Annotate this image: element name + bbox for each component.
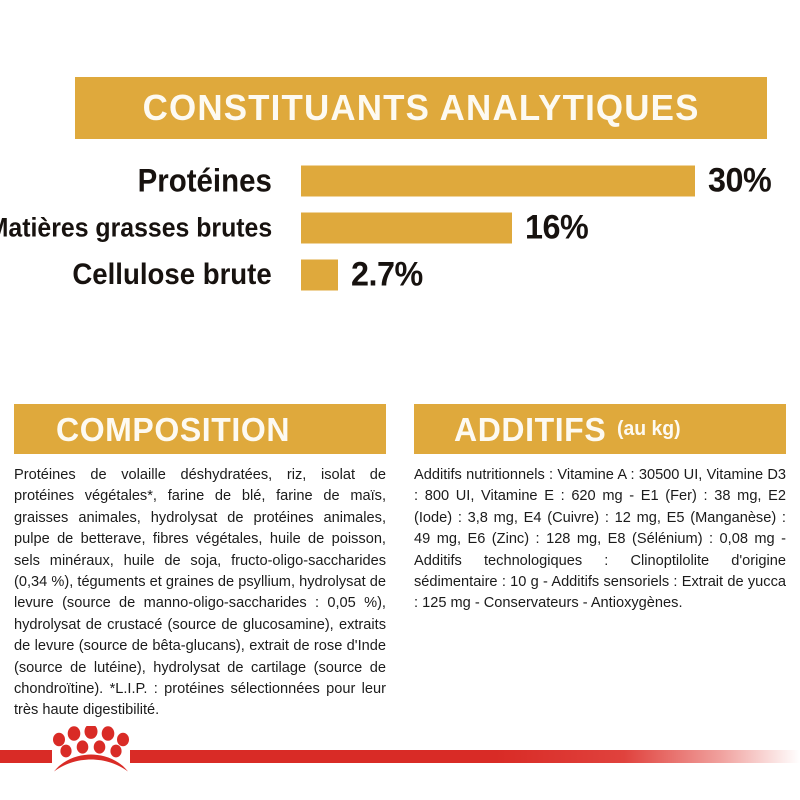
chart-label-matieres-grasses-brutes: Matières grasses brutes (0, 212, 272, 243)
chart-bar-cellulose-brute (301, 259, 338, 290)
analytical-constituents-chart: Protéines 30% Matières grasses brutes 16… (0, 157, 800, 298)
chart-row-cellulose-brute: Cellulose brute 2.7% (0, 251, 800, 298)
chart-track-matieres-grasses-brutes: 16% (301, 212, 592, 243)
chart-value-matieres-grasses-brutes: 16% (525, 211, 588, 245)
chart-track-proteines: 30% (301, 165, 775, 196)
additives-title: ADDITIFS (454, 413, 606, 446)
additives-title-unit: (au kg) (617, 419, 681, 439)
additives-body-text: Additifs nutritionnels : Vitamine A : 30… (414, 465, 786, 615)
product-spec-panel: CONSTITUANTS ANALYTIQUES Protéines 30% M… (0, 0, 800, 800)
composition-title: COMPOSITION (56, 413, 290, 446)
analytical-constituents-header-band: CONSTITUANTS ANALYTIQUES (75, 77, 767, 139)
composition-body-text: Protéines de volaille déshydratées, riz,… (14, 465, 386, 722)
composition-column: COMPOSITION Protéines de volaille déshyd… (0, 404, 400, 722)
additives-column: ADDITIFS (au kg) Additifs nutritionnels … (400, 404, 800, 722)
analytical-constituents-title: CONSTITUANTS ANALYTIQUES (143, 90, 700, 126)
additives-header-band: ADDITIFS (au kg) (414, 404, 786, 454)
chart-value-cellulose-brute: 2.7% (351, 258, 423, 292)
chart-bar-proteines (301, 165, 695, 196)
composition-header-band: COMPOSITION (14, 404, 386, 454)
royal-canin-crown-icon (52, 726, 130, 774)
chart-label-proteines: Protéines (138, 162, 272, 199)
chart-bar-matieres-grasses-brutes (301, 212, 512, 243)
chart-row-proteines: Protéines 30% (0, 157, 800, 204)
details-columns: COMPOSITION Protéines de volaille déshyd… (0, 404, 800, 722)
chart-row-matieres-grasses-brutes: Matières grasses brutes 16% (0, 204, 800, 251)
chart-track-cellulose-brute: 2.7% (301, 259, 427, 290)
chart-value-proteines: 30% (708, 164, 771, 198)
chart-label-cellulose-brute: Cellulose brute (73, 258, 272, 292)
